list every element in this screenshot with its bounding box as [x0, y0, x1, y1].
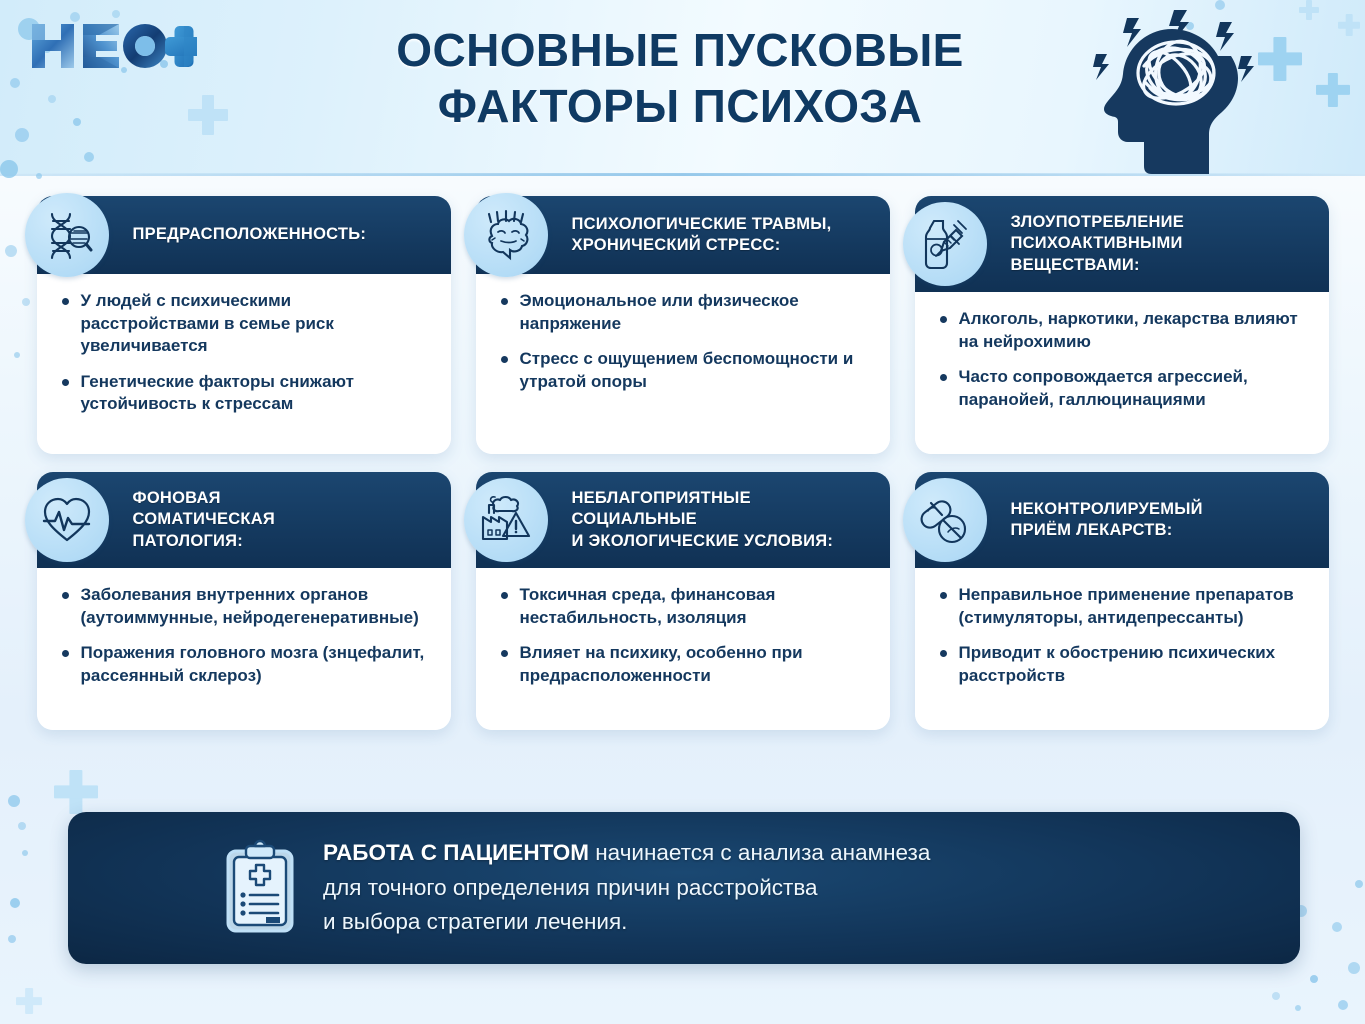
decorative-dot [73, 118, 81, 126]
decorative-dot [8, 935, 16, 943]
card-title: ЗЛОУПОТРЕБЛЕНИЕ ПСИХОАКТИВНЫМИ ВЕЩЕСТВАМ… [1011, 212, 1185, 275]
card-social-ecological: НЕБЛАГОПРИЯТНЫЕ СОЦИАЛЬНЫЕ И ЭКОЛОГИЧЕСК… [476, 472, 890, 730]
factor-cards-grid: ПРЕДРАСПОЛОЖЕННОСТЬ: У людей с психическ… [0, 196, 1365, 730]
decorative-dot [0, 160, 18, 178]
card-substance-abuse: ЗЛОУПОТРЕБЛЕНИЕ ПСИХОАКТИВНЫМИ ВЕЩЕСТВАМ… [915, 196, 1329, 454]
decorative-plus-icon [16, 988, 42, 1014]
card-header: НЕБЛАГОПРИЯТНЫЕ СОЦИАЛЬНЫЕ И ЭКОЛОГИЧЕСК… [476, 472, 890, 568]
list-item: Генетические факторы снижают устойчивост… [59, 371, 433, 416]
dna-magnifier-icon [25, 193, 109, 277]
card-bullet-list: У людей с психическими расстройствами в … [59, 290, 433, 416]
card-header: ПРЕДРАСПОЛОЖЕННОСТЬ: [37, 196, 451, 274]
card-header: ПСИХОЛОГИЧЕСКИЕ ТРАВМЫ, ХРОНИЧЕСКИЙ СТРЕ… [476, 196, 890, 274]
card-predisposition: ПРЕДРАСПОЛОЖЕННОСТЬ: У людей с психическ… [37, 196, 451, 454]
card-body: Алкоголь, наркотики, лекарства влияют на… [915, 292, 1329, 454]
decorative-dot [1272, 992, 1280, 1000]
card-header: ЗЛОУПОТРЕБЛЕНИЕ ПСИХОАКТИВНЫМИ ВЕЩЕСТВАМ… [915, 196, 1329, 292]
decorative-dot [36, 173, 42, 179]
decorative-plus-icon [1299, 0, 1319, 20]
card-body: Токсичная среда, финансовая нестабильнос… [476, 568, 890, 730]
list-item: У людей с психическими расстройствами в … [59, 290, 433, 358]
list-item: Приводит к обострению психических расстр… [937, 642, 1311, 687]
list-item: Неправильное применение препаратов (стим… [937, 584, 1311, 629]
decorative-plus-icon [1316, 73, 1350, 107]
list-item: Алкоголь, наркотики, лекарства влияют на… [937, 308, 1311, 353]
head-with-tangled-brain-icon [1070, 4, 1285, 174]
list-item: Стресс с ощущением беспомощности и утрат… [498, 348, 872, 393]
banner-lead: РАБОТА С ПАЦИЕНТОМ [323, 840, 589, 865]
card-body: У людей с психическими расстройствами в … [37, 274, 451, 454]
decorative-dot [84, 152, 94, 162]
decorative-dot [1332, 922, 1342, 932]
list-item: Токсичная среда, финансовая нестабильнос… [498, 584, 872, 629]
decorative-dot [8, 795, 20, 807]
card-body: Неправильное применение препаратов (стим… [915, 568, 1329, 730]
decorative-dot [1355, 880, 1363, 888]
card-bullet-list: Эмоциональное или физическое напряжение … [498, 290, 872, 393]
list-item: Эмоциональное или физическое напряжение [498, 290, 872, 335]
card-title: НЕКОНТРОЛИРУЕМЫЙ ПРИЁМ ЛЕКАРСТВ: [1011, 499, 1203, 541]
decorative-dot [15, 128, 29, 142]
card-somatic-pathology: ФОНОВАЯ СОМАТИЧЕСКАЯ ПАТОЛОГИЯ: Заболева… [37, 472, 451, 730]
decorative-dot [22, 850, 28, 856]
list-item: Часто сопровождается агрессией, паранойе… [937, 366, 1311, 411]
card-header: НЕКОНТРОЛИРУЕМЫЙ ПРИЁМ ЛЕКАРСТВ: [915, 472, 1329, 568]
page-title-line-1: ОСНОВНЫЕ ПУСКОВЫЕ [300, 22, 1060, 78]
list-item: Влияет на психику, особенно при предрасп… [498, 642, 872, 687]
page-title-line-2: ФАКТОРЫ ПСИХОЗА [300, 78, 1060, 134]
decorative-plus-icon [54, 770, 98, 814]
bottom-banner: РАБОТА С ПАЦИЕНТОМ начинается с анализа … [68, 812, 1300, 964]
card-bullet-list: Токсичная среда, финансовая нестабильнос… [498, 584, 872, 687]
decorative-dot [10, 898, 20, 908]
decorative-dot [18, 822, 26, 830]
pills-icon [903, 478, 987, 562]
decorative-dot [112, 10, 120, 18]
page-title: ОСНОВНЫЕ ПУСКОВЫЕ ФАКТОРЫ ПСИХОЗА [300, 22, 1060, 134]
list-item: Заболевания внутренних органов (аутоимму… [59, 584, 433, 629]
decorative-plus-icon [188, 95, 228, 135]
list-item: Поражения головного мозга (знцефалит, ра… [59, 642, 433, 687]
stressed-brain-icon [464, 193, 548, 277]
heart-pulse-icon [25, 478, 109, 562]
decorative-dot [1348, 962, 1360, 974]
card-header: ФОНОВАЯ СОМАТИЧЕСКАЯ ПАТОЛОГИЯ: [37, 472, 451, 568]
decorative-dot [10, 78, 20, 88]
card-uncontrolled-medication: НЕКОНТРОЛИРУЕМЫЙ ПРИЁМ ЛЕКАРСТВ: Неправи… [915, 472, 1329, 730]
clipboard-medical-icon [220, 839, 300, 937]
card-title: НЕБЛАГОПРИЯТНЫЕ СОЦИАЛЬНЫЕ И ЭКОЛОГИЧЕСК… [572, 488, 834, 551]
decorative-plus-icon [1338, 14, 1360, 36]
card-title: ПРЕДРАСПОЛОЖЕННОСТЬ: [133, 224, 367, 245]
decorative-dot [48, 95, 56, 103]
factory-warning-icon [464, 478, 548, 562]
banner-text: РАБОТА С ПАЦИЕНТОМ начинается с анализа … [323, 836, 930, 941]
bottle-syringe-icon [903, 202, 987, 286]
card-body: Заболевания внутренних органов (аутоимму… [37, 568, 451, 730]
decorative-dot [1295, 1005, 1301, 1011]
card-bullet-list: Заболевания внутренних органов (аутоимму… [59, 584, 433, 687]
neo-plus-logo [27, 18, 197, 74]
decorative-dot [1310, 975, 1318, 983]
card-title: ПСИХОЛОГИЧЕСКИЕ ТРАВМЫ, ХРОНИЧЕСКИЙ СТРЕ… [572, 214, 832, 256]
decorative-dot [1338, 1000, 1348, 1010]
card-psychological-trauma: ПСИХОЛОГИЧЕСКИЕ ТРАВМЫ, ХРОНИЧЕСКИЙ СТРЕ… [476, 196, 890, 454]
card-bullet-list: Алкоголь, наркотики, лекарства влияют на… [937, 308, 1311, 411]
card-bullet-list: Неправильное применение препаратов (стим… [937, 584, 1311, 687]
infographic-page: ОСНОВНЫЕ ПУСКОВЫЕ ФАКТОРЫ ПСИХОЗА [0, 0, 1365, 1024]
card-body: Эмоциональное или физическое напряжение … [476, 274, 890, 454]
card-title: ФОНОВАЯ СОМАТИЧЕСКАЯ ПАТОЛОГИЯ: [133, 488, 275, 551]
